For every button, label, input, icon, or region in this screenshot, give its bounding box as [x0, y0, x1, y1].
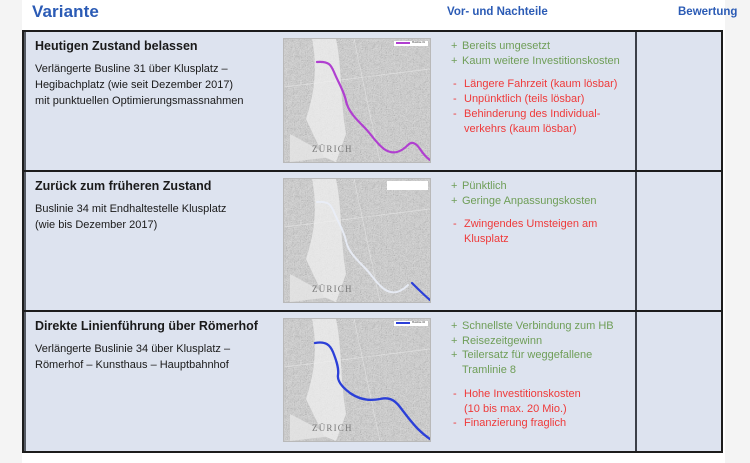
pro-item: +Bereits umgesetzt: [451, 39, 627, 54]
minus-sign-icon: -: [451, 416, 464, 431]
con-text: Unpünktlich (teils lösbar): [464, 92, 627, 107]
pro-item: +Pünktlich: [451, 179, 627, 194]
pros-cons-cell: +Bereits umgesetzt +Kaum weitere Investi…: [437, 32, 637, 170]
legend-label: Buslinie 31: [412, 42, 425, 45]
column-header-bewertung: Bewertung: [678, 6, 737, 18]
minus-sign-icon: -: [451, 217, 464, 246]
con-item: -Behinderung des Individual- verkehrs (k…: [451, 107, 627, 136]
pro-item: +Reisezeitgewinn: [451, 334, 627, 349]
rating-cell[interactable]: [637, 172, 721, 310]
svg-text:ZÜRICH: ZÜRICH: [312, 144, 353, 154]
route-map-image: ZÜRICH: [283, 178, 431, 303]
column-header-vor-und-nachteile: Vor- und Nachteile: [447, 6, 548, 18]
minus-sign-icon: -: [451, 92, 464, 107]
pro-text: Pünktlich: [462, 179, 627, 194]
con-item: -Hohe Investitionskosten (10 bis max. 20…: [451, 387, 627, 416]
plus-sign-icon: +: [451, 319, 462, 334]
variant-cell: Zurück zum früheren Zustand Buslinie 34 …: [24, 172, 277, 310]
variants-table: Heutigen Zustand belassen Verlängerte Bu…: [22, 30, 723, 453]
minus-sign-icon: -: [451, 77, 464, 92]
cons-list: -Hohe Investitionskosten (10 bis max. 20…: [451, 387, 627, 431]
map-cell: ZÜRICH Buslinie 31: [277, 32, 437, 170]
svg-text:ZÜRICH: ZÜRICH: [312, 284, 353, 294]
map-graphic: ZÜRICH: [284, 179, 430, 302]
svg-text:ZÜRICH: ZÜRICH: [312, 423, 353, 433]
variant-cell: Direkte Linienführung über Römerhof Verl…: [24, 312, 277, 451]
document-page: Variante Vor- und Nachteile Bewertung He…: [0, 0, 750, 463]
table-row: Zurück zum früheren Zustand Buslinie 34 …: [24, 172, 721, 312]
variant-description: Verlängerte Buslinie 34 über Klusplatz –…: [35, 342, 269, 374]
pros-list: +Pünktlich +Geringe Anpassungskosten: [451, 179, 627, 208]
cons-list: -Längere Fahrzeit (kaum lösbar) -Unpünkt…: [451, 77, 627, 136]
pro-text: Schnellste Verbindung zum HB: [462, 319, 627, 334]
pro-item: +Teilersatz für weggefallene Tramlinie 8: [451, 348, 627, 377]
pro-text: Geringe Anpassungskosten: [462, 194, 627, 209]
rating-cell[interactable]: [637, 312, 721, 451]
pros-list: +Bereits umgesetzt +Kaum weitere Investi…: [451, 39, 627, 68]
route-map-image: ZÜRICH Buslinie 34: [283, 318, 431, 442]
con-text: Finanzierung fraglich: [464, 416, 627, 431]
plus-sign-icon: +: [451, 179, 462, 194]
con-item: -Zwingendes Umsteigen am Klusplatz: [451, 217, 627, 246]
plus-sign-icon: +: [451, 348, 462, 377]
map-graphic: ZÜRICH: [284, 319, 430, 441]
minus-sign-icon: -: [451, 387, 464, 416]
pro-item: +Kaum weitere Investitionskosten: [451, 54, 627, 69]
plus-sign-icon: +: [451, 39, 462, 54]
column-header-variante: Variante: [32, 2, 99, 22]
variant-title: Zurück zum früheren Zustand: [35, 179, 269, 195]
con-text: Behinderung des Individual- verkehrs (ka…: [464, 107, 627, 136]
pros-cons-cell: +Pünktlich +Geringe Anpassungskosten -Zw…: [437, 172, 637, 310]
plus-sign-icon: +: [451, 334, 462, 349]
con-item: -Unpünktlich (teils lösbar): [451, 92, 627, 107]
map-graphic: ZÜRICH: [284, 39, 430, 162]
map-legend: Buslinie 31: [394, 41, 428, 46]
map-legend: [387, 181, 428, 190]
variant-title: Direkte Linienführung über Römerhof: [35, 319, 269, 335]
pro-item: +Schnellste Verbindung zum HB: [451, 319, 627, 334]
table-row: Heutigen Zustand belassen Verlängerte Bu…: [24, 32, 721, 172]
page-left-margin: [0, 0, 22, 463]
pro-text: Kaum weitere Investitionskosten: [462, 54, 627, 69]
pro-text: Teilersatz für weggefallene Tramlinie 8: [462, 348, 627, 377]
legend-color-swatch: [396, 42, 410, 44]
variant-description: Verlängerte Busline 31 über Klusplatz – …: [35, 62, 269, 110]
variant-title: Heutigen Zustand belassen: [35, 39, 269, 55]
cons-list: -Zwingendes Umsteigen am Klusplatz: [451, 217, 627, 246]
pro-text: Reisezeitgewinn: [462, 334, 627, 349]
plus-sign-icon: +: [451, 194, 462, 209]
con-item: -Finanzierung fraglich: [451, 416, 627, 431]
map-cell: ZÜRICH: [277, 172, 437, 310]
legend-color-swatch: [396, 322, 410, 324]
map-legend: Buslinie 34: [394, 321, 428, 326]
rating-cell[interactable]: [637, 32, 721, 170]
table-header: Variante Vor- und Nachteile Bewertung: [22, 0, 725, 28]
con-text: Längere Fahrzeit (kaum lösbar): [464, 77, 627, 92]
route-map-image: ZÜRICH Buslinie 31: [283, 38, 431, 163]
pros-cons-cell: +Schnellste Verbindung zum HB +Reisezeit…: [437, 312, 637, 451]
pros-list: +Schnellste Verbindung zum HB +Reisezeit…: [451, 319, 627, 378]
page-right-margin: [725, 0, 750, 463]
plus-sign-icon: +: [451, 54, 462, 69]
con-text: Zwingendes Umsteigen am Klusplatz: [464, 217, 627, 246]
table-row: Direkte Linienführung über Römerhof Verl…: [24, 312, 721, 451]
pro-text: Bereits umgesetzt: [462, 39, 627, 54]
con-text: Hohe Investitionskosten (10 bis max. 20 …: [464, 387, 627, 416]
minus-sign-icon: -: [451, 107, 464, 136]
pro-item: +Geringe Anpassungskosten: [451, 194, 627, 209]
variant-description: Buslinie 34 mit Endhaltestelle Klusplatz…: [35, 202, 269, 234]
variant-cell: Heutigen Zustand belassen Verlängerte Bu…: [24, 32, 277, 170]
map-cell: ZÜRICH Buslinie 34: [277, 312, 437, 451]
con-item: -Längere Fahrzeit (kaum lösbar): [451, 77, 627, 92]
legend-label: Buslinie 34: [412, 322, 425, 325]
